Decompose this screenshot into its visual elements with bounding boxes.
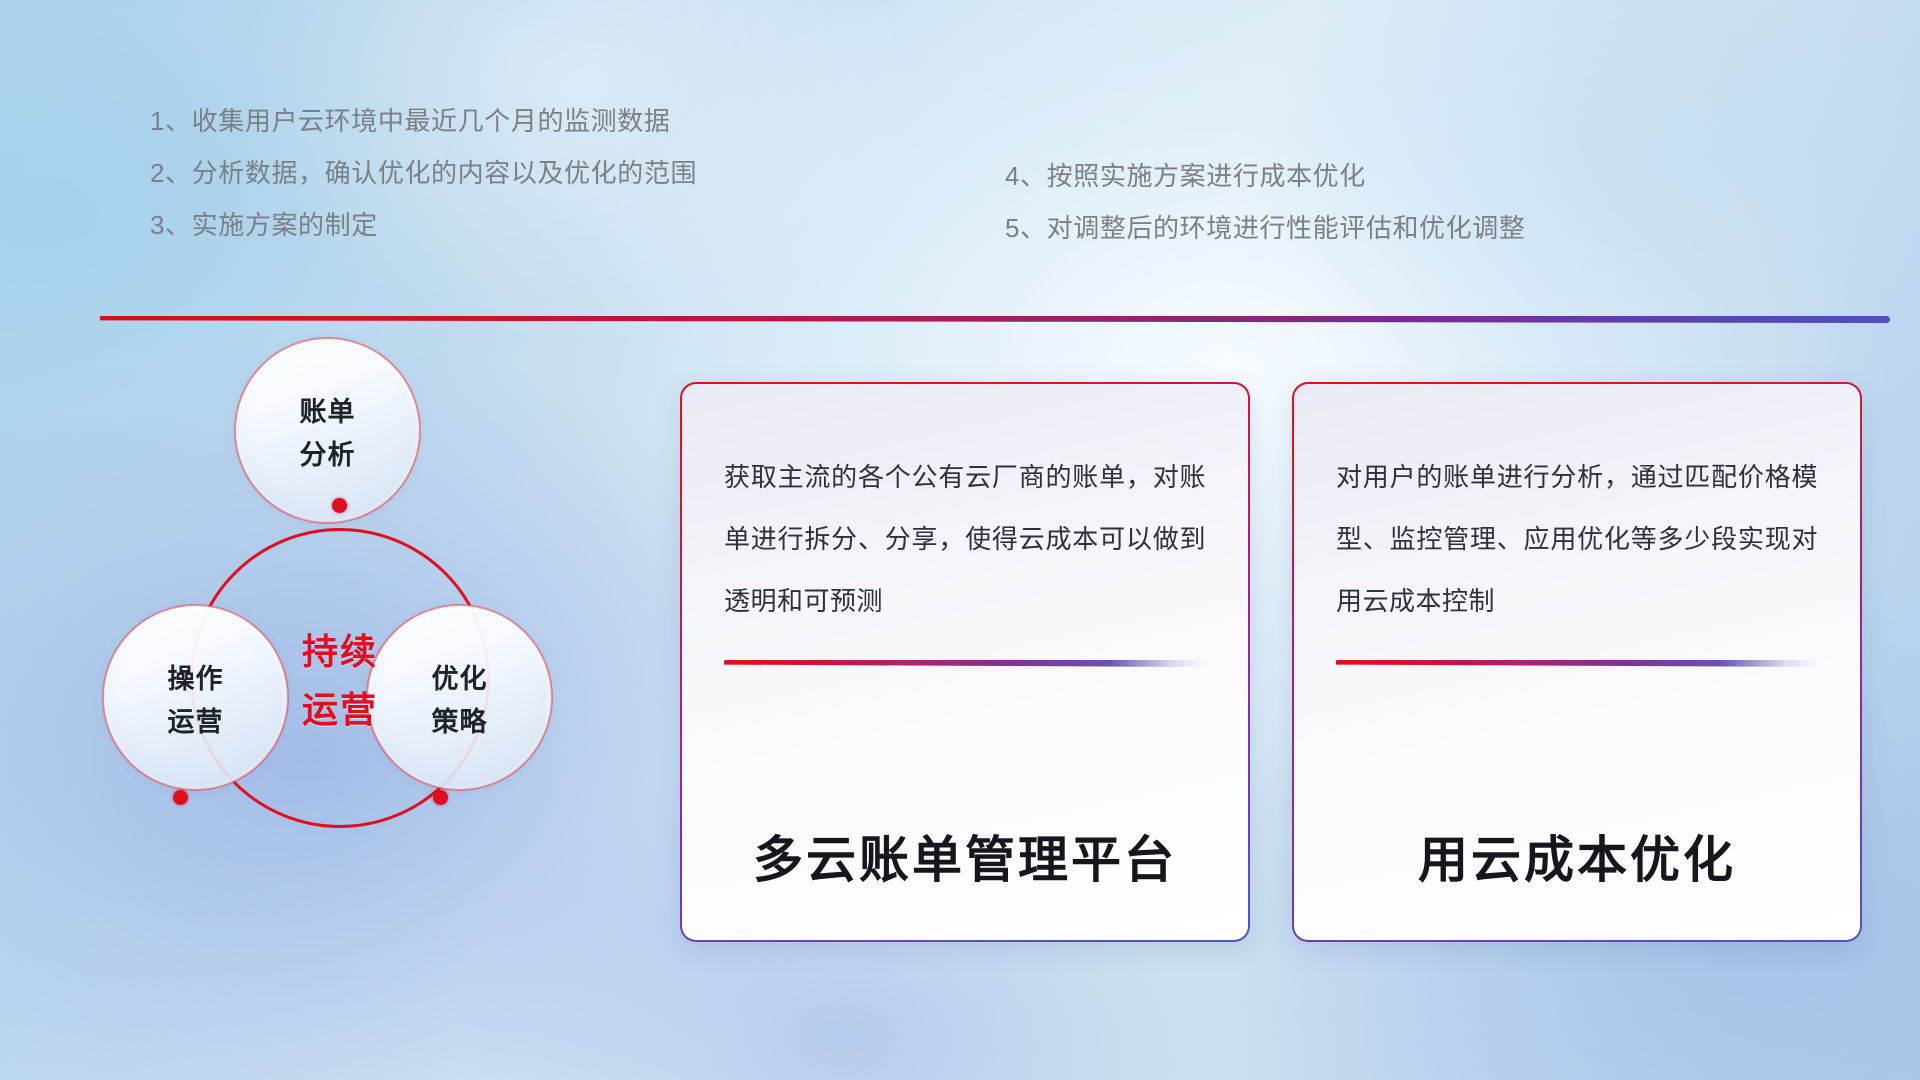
steps-list-left: 1、收集用户云环境中最近几个月的监测数据 2、分析数据，确认优化的内容以及优化的… — [150, 95, 697, 251]
venn-node-billing-analysis-label: 账单 分析 — [235, 338, 420, 523]
venn-center-line-2: 运营 — [302, 681, 378, 733]
card-2-inner: 对用户的账单进行分析，通过匹配价格模型、监控管理、应用优化等多少段实现对用云成本… — [1294, 384, 1860, 940]
card-2-body: 对用户的账单进行分析，通过匹配价格模型、监控管理、应用优化等多少段实现对用云成本… — [1336, 446, 1818, 632]
card-1-title: 多云账单管理平台 — [724, 820, 1206, 906]
card-2-title: 用云成本优化 — [1336, 820, 1818, 906]
venn-node-billing-analysis-line-1: 账单 — [300, 390, 356, 429]
step-item-4: 4、按照实施方案进行成本优化 — [1005, 150, 1525, 202]
card-1-inner: 获取主流的各个公有云厂商的账单，对账单进行拆分、分享，使得云成本可以做到透明和可… — [682, 384, 1248, 940]
venn-connector-dot-left — [173, 790, 188, 805]
venn-center-label: 持续 运营 — [190, 528, 490, 828]
step-item-5: 5、对调整后的环境进行性能评估和优化调整 — [1005, 202, 1525, 254]
card-1-body: 获取主流的各个公有云厂商的账单，对账单进行拆分、分享，使得云成本可以做到透明和可… — [724, 446, 1206, 632]
card-1-rule — [724, 660, 1206, 667]
venn-node-billing-analysis-line-2: 分析 — [300, 433, 356, 472]
venn-connector-dot-top — [332, 498, 347, 513]
venn-connector-dot-right — [433, 790, 448, 805]
venn-node-billing-analysis[interactable]: 账单 分析 — [235, 338, 420, 523]
card-2-rule — [1336, 660, 1818, 667]
step-item-3: 3、实施方案的制定 — [150, 199, 697, 251]
venn-center-line-1: 持续 — [302, 623, 378, 675]
steps-list-right: 4、按照实施方案进行成本优化 5、对调整后的环境进行性能评估和优化调整 — [1005, 150, 1525, 254]
venn-diagram: 持续 运营 账单 分析 操作 运营 优化 策略 — [95, 350, 605, 960]
step-item-2: 2、分析数据，确认优化的内容以及优化的范围 — [150, 147, 697, 199]
step-item-1: 1、收集用户云环境中最近几个月的监测数据 — [150, 95, 697, 147]
card-multi-cloud-billing-platform[interactable]: 获取主流的各个公有云厂商的账单，对账单进行拆分、分享，使得云成本可以做到透明和可… — [680, 382, 1250, 942]
card-cloud-cost-optimization[interactable]: 对用户的账单进行分析，通过匹配价格模型、监控管理、应用优化等多少段实现对用云成本… — [1292, 382, 1862, 942]
